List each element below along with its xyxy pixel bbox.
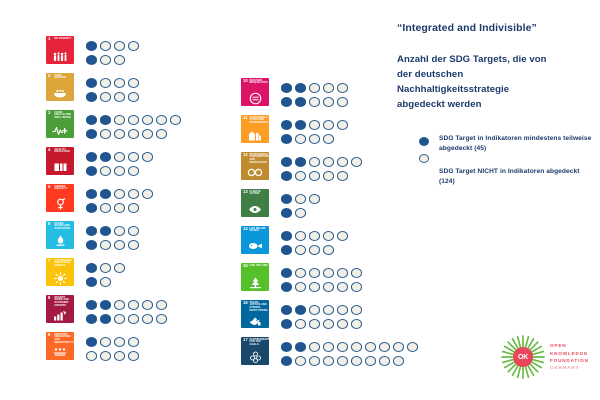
target-dot-not-covered xyxy=(337,319,348,329)
sdg-row-14: 14LIFE BELOW WATER xyxy=(241,226,421,263)
sdg-title-13: CLIMATE ACTION xyxy=(250,191,269,197)
sdg-column-left: 1NO POVERTY2ZERO HUNGER3GOOD HEALTH AND … xyxy=(46,36,184,369)
sdg-row-13: 13CLIMATE ACTION xyxy=(241,189,421,226)
sdg-number-14: 14 xyxy=(243,227,248,231)
target-dot-not-covered xyxy=(323,171,334,181)
target-dot-line xyxy=(281,229,351,243)
target-dots-10 xyxy=(281,78,351,109)
target-dot-line xyxy=(86,238,142,252)
target-dot-not-covered xyxy=(100,203,111,213)
target-dot-not-covered xyxy=(337,157,348,167)
gender-icon xyxy=(46,196,74,212)
target-dot-covered xyxy=(281,208,292,218)
sdg-row-16: 16PEACE, JUSTICE AND STRONG INSTITUTIONS xyxy=(241,300,421,337)
sdg-icon-9: 9INDUSTRY, INNOVATION AND INFRASTRUCTURE xyxy=(46,332,74,360)
target-dot-not-covered xyxy=(100,41,111,51)
people-icon xyxy=(46,48,74,64)
target-dot-not-covered xyxy=(323,282,334,292)
target-dot-not-covered xyxy=(114,226,125,236)
target-dot-covered xyxy=(295,120,306,130)
target-dot-line xyxy=(86,349,142,363)
target-dot-not-covered xyxy=(128,166,139,176)
target-dot-covered xyxy=(281,342,292,352)
target-dot-line xyxy=(86,312,170,326)
okf-burst-icon: OK xyxy=(500,334,546,380)
target-dot-not-covered xyxy=(114,115,125,125)
target-dot-not-covered xyxy=(100,240,111,250)
sdg-number-8: 8 xyxy=(48,296,50,300)
target-dot-not-covered xyxy=(309,194,320,204)
sdg-icon-12: 12RESPONSIBLE CONSUMPTION AND PRODUCTION xyxy=(241,152,269,180)
sdg-title-7: AFFORDABLE AND CLEAN ENERGY xyxy=(55,260,74,269)
target-dots-7 xyxy=(86,258,128,289)
target-dot-not-covered xyxy=(295,231,306,241)
target-dot-not-covered xyxy=(142,115,153,125)
target-dot-not-covered xyxy=(128,92,139,102)
target-dot-not-covered xyxy=(407,342,418,352)
target-dot-not-covered xyxy=(323,356,334,366)
target-dot-not-covered xyxy=(309,282,320,292)
okf-line-4: GERMANY xyxy=(550,364,589,371)
legend-item-not-covered: SDG Target NICHT in Indikatoren abgedeck… xyxy=(419,167,597,189)
target-dot-covered xyxy=(86,78,97,88)
target-dot-line xyxy=(281,266,365,280)
target-dot-not-covered xyxy=(309,83,320,93)
target-dot-line xyxy=(281,340,421,354)
target-dot-covered xyxy=(86,41,97,51)
target-dot-not-covered xyxy=(393,342,404,352)
target-dot-line xyxy=(281,81,351,95)
target-dot-line xyxy=(86,164,156,178)
target-dot-not-covered xyxy=(323,231,334,241)
target-dot-line xyxy=(86,53,142,67)
target-dot-covered xyxy=(281,134,292,144)
sun-icon xyxy=(46,270,74,286)
target-dot-line xyxy=(86,201,156,215)
target-dot-not-covered xyxy=(86,351,97,361)
pulse-icon xyxy=(46,122,74,138)
target-dot-not-covered xyxy=(309,171,320,181)
sdg-row-5: 5GENDER EQUALITY xyxy=(46,184,184,221)
target-dot-not-covered xyxy=(337,356,348,366)
target-dot-not-covered xyxy=(351,282,362,292)
target-dot-line xyxy=(86,187,156,201)
target-dot-not-covered xyxy=(323,134,334,144)
target-dot-covered xyxy=(100,115,111,125)
legend: SDG Target in Indikatoren mindestens tei… xyxy=(419,134,597,189)
target-dot-covered xyxy=(281,97,292,107)
target-dot-not-covered xyxy=(100,78,111,88)
target-dot-covered xyxy=(100,300,111,310)
target-dot-not-covered xyxy=(114,152,125,162)
target-dot-not-covered xyxy=(142,300,153,310)
sdg-number-12: 12 xyxy=(243,153,248,157)
target-dot-not-covered xyxy=(323,245,334,255)
target-dots-15 xyxy=(281,263,365,294)
target-dot-not-covered xyxy=(142,314,153,324)
target-dot-not-covered xyxy=(309,245,320,255)
target-dot-not-covered xyxy=(100,129,111,139)
city-icon xyxy=(241,127,269,143)
target-dots-9 xyxy=(86,332,142,363)
target-dot-not-covered xyxy=(393,356,404,366)
target-dots-3 xyxy=(86,110,184,141)
target-dot-covered xyxy=(295,342,306,352)
target-dot-not-covered xyxy=(337,268,348,278)
sdg-number-16: 16 xyxy=(243,301,248,305)
target-dot-not-covered xyxy=(309,305,320,315)
growth-icon xyxy=(46,307,74,323)
target-dot-not-covered xyxy=(337,171,348,181)
sdg-number-15: 15 xyxy=(243,264,248,268)
sdg-row-12: 12RESPONSIBLE CONSUMPTION AND PRODUCTION xyxy=(241,152,421,189)
sdg-number-11: 11 xyxy=(243,116,247,120)
target-dot-covered xyxy=(295,305,306,315)
target-dot-not-covered xyxy=(128,78,139,88)
sdg-row-11: 11SUSTAINABLE CITIES AND COMMUNITIES xyxy=(241,115,421,152)
target-dot-line xyxy=(281,243,351,257)
target-dot-not-covered xyxy=(156,314,167,324)
target-dot-not-covered xyxy=(114,92,125,102)
sdg-number-2: 2 xyxy=(48,74,50,78)
target-dot-not-covered xyxy=(337,305,348,315)
target-dots-12 xyxy=(281,152,365,183)
legend-label-covered: SDG Target in Indikatoren mindestens tei… xyxy=(439,134,597,154)
sdg-title-15: LIFE ON LAND xyxy=(250,265,269,268)
target-dot-covered xyxy=(281,194,292,204)
target-dots-11 xyxy=(281,115,351,146)
target-dot-not-covered xyxy=(323,305,334,315)
target-dot-covered xyxy=(281,157,292,167)
target-dot-covered xyxy=(281,231,292,241)
target-dot-not-covered xyxy=(323,120,334,130)
target-dot-not-covered xyxy=(295,208,306,218)
page-subtitle: Anzahl der SDG Targets, die von der deut… xyxy=(397,53,547,112)
target-dot-not-covered xyxy=(114,55,125,65)
target-dot-not-covered xyxy=(114,351,125,361)
sdg-number-1: 1 xyxy=(48,37,50,41)
legend-label-not-covered: SDG Target NICHT in Indikatoren abgedeck… xyxy=(439,167,597,187)
book-icon xyxy=(46,159,74,175)
target-dot-line xyxy=(281,303,365,317)
sdg-title-1: NO POVERTY xyxy=(55,38,74,41)
target-dot-not-covered xyxy=(100,55,111,65)
sdg-row-4: 4QUALITY EDUCATION xyxy=(46,147,184,184)
sdg-number-4: 4 xyxy=(48,148,50,152)
target-dot-covered xyxy=(100,152,111,162)
target-dot-not-covered xyxy=(114,314,125,324)
target-dot-covered xyxy=(295,83,306,93)
target-dot-not-covered xyxy=(309,134,320,144)
target-dot-not-covered xyxy=(128,189,139,199)
target-dot-not-covered xyxy=(337,342,348,352)
target-dot-line xyxy=(86,275,128,289)
water-icon xyxy=(46,233,74,249)
target-dot-covered xyxy=(281,245,292,255)
sdg-icon-8: 8DECENT WORK AND ECONOMIC GROWTH xyxy=(46,295,74,323)
target-dot-not-covered xyxy=(128,129,139,139)
okf-line-2: KNOWLEDGE xyxy=(550,350,589,357)
target-dot-line xyxy=(86,261,128,275)
target-dot-line xyxy=(281,169,365,183)
target-dot-not-covered xyxy=(100,337,111,347)
target-dot-not-covered xyxy=(100,351,111,361)
sdg-title-10: REDUCED INEQUALITIES xyxy=(250,80,269,86)
target-dot-not-covered xyxy=(337,231,348,241)
target-dot-not-covered xyxy=(142,129,153,139)
target-dots-4 xyxy=(86,147,156,178)
target-dot-not-covered xyxy=(142,189,153,199)
sdg-icon-17: 17PARTNERSHIPS FOR THE GOALS xyxy=(241,337,269,365)
target-dot-not-covered xyxy=(114,263,125,273)
target-dot-covered xyxy=(86,189,97,199)
target-dot-not-covered xyxy=(379,342,390,352)
target-dot-not-covered xyxy=(128,300,139,310)
target-dots-8 xyxy=(86,295,170,326)
target-dots-17 xyxy=(281,337,421,368)
sdg-row-17: 17PARTNERSHIPS FOR THE GOALS xyxy=(241,337,421,374)
target-dot-line xyxy=(86,76,142,90)
target-dot-line xyxy=(86,224,142,238)
target-dot-covered xyxy=(281,171,292,181)
target-dot-not-covered xyxy=(128,240,139,250)
target-dot-line xyxy=(281,132,351,146)
target-dot-covered xyxy=(281,83,292,93)
sdg-title-4: QUALITY EDUCATION xyxy=(55,149,74,155)
target-dot-not-covered xyxy=(100,263,111,273)
target-dot-covered xyxy=(86,277,97,287)
target-dot-covered xyxy=(281,120,292,130)
target-dot-not-covered xyxy=(295,356,306,366)
target-dot-not-covered xyxy=(323,319,334,329)
infinity-icon xyxy=(241,164,269,180)
target-dot-covered xyxy=(86,203,97,213)
target-dot-not-covered xyxy=(128,115,139,125)
target-dot-not-covered xyxy=(114,203,125,213)
target-dot-not-covered xyxy=(295,319,306,329)
target-dot-line xyxy=(86,39,142,53)
target-dot-covered xyxy=(100,314,111,324)
target-dot-not-covered xyxy=(114,129,125,139)
target-dot-line xyxy=(281,280,365,294)
target-dot-not-covered xyxy=(114,337,125,347)
target-dots-2 xyxy=(86,73,142,104)
target-dot-covered xyxy=(281,319,292,329)
target-dot-line xyxy=(86,127,184,141)
sdg-title-3: GOOD HEALTH AND WELL-BEING xyxy=(55,112,74,121)
target-dot-covered xyxy=(86,263,97,273)
target-dot-line xyxy=(281,95,351,109)
target-dots-13 xyxy=(281,189,323,220)
sdg-row-7: 7AFFORDABLE AND CLEAN ENERGY xyxy=(46,258,184,295)
target-dot-not-covered xyxy=(309,319,320,329)
target-dot-covered xyxy=(86,166,97,176)
target-dot-not-covered xyxy=(170,115,181,125)
target-dot-not-covered xyxy=(156,300,167,310)
target-dot-not-covered xyxy=(351,319,362,329)
target-dot-covered xyxy=(295,97,306,107)
target-dot-not-covered xyxy=(128,351,139,361)
target-dot-covered xyxy=(86,226,97,236)
okf-logo-text: OPEN KNOWLEDGE FOUNDATION GERMANY xyxy=(550,342,589,371)
sdg-row-2: 2ZERO HUNGER xyxy=(46,73,184,110)
target-dot-line xyxy=(281,317,365,331)
target-dot-covered xyxy=(295,157,306,167)
target-dot-line xyxy=(281,155,365,169)
sdg-title-6: CLEAN WATER AND SANITATION xyxy=(55,223,74,232)
sdg-title-2: ZERO HUNGER xyxy=(55,75,74,81)
okf-logo: OK OPEN KNOWLEDGE FOUNDATION GERMANY xyxy=(500,334,589,380)
target-dots-1 xyxy=(86,36,142,67)
industry-icon xyxy=(46,344,74,360)
target-dot-not-covered xyxy=(100,92,111,102)
target-dot-not-covered xyxy=(142,152,153,162)
sdg-number-6: 6 xyxy=(48,222,50,226)
target-dot-not-covered xyxy=(114,240,125,250)
sdg-icon-15: 15LIFE ON LAND xyxy=(241,263,269,291)
eye-icon xyxy=(241,201,269,217)
target-dots-14 xyxy=(281,226,351,257)
sdg-number-5: 5 xyxy=(48,185,50,189)
sdg-number-13: 13 xyxy=(243,190,248,194)
target-dot-covered xyxy=(100,226,111,236)
target-dot-not-covered xyxy=(337,120,348,130)
sdg-icon-2: 2ZERO HUNGER xyxy=(46,73,74,101)
target-dot-not-covered xyxy=(114,78,125,88)
sdg-row-15: 15LIFE ON LAND xyxy=(241,263,421,300)
page-title: “Integrated and Indivisible” xyxy=(397,22,597,36)
target-dot-covered xyxy=(86,152,97,162)
target-dot-line xyxy=(281,118,351,132)
target-dot-line xyxy=(86,298,170,312)
target-dot-covered xyxy=(86,314,97,324)
target-dot-not-covered xyxy=(128,41,139,51)
sdg-row-9: 9INDUSTRY, INNOVATION AND INFRASTRUCTURE xyxy=(46,332,184,369)
target-dot-not-covered xyxy=(351,157,362,167)
okf-line-1: OPEN xyxy=(550,342,589,349)
target-dot-covered xyxy=(86,92,97,102)
sdg-row-8: 8DECENT WORK AND ECONOMIC GROWTH xyxy=(46,295,184,332)
sdg-number-9: 9 xyxy=(48,333,50,337)
target-dot-covered xyxy=(86,240,97,250)
target-dot-not-covered xyxy=(128,337,139,347)
sdg-row-1: 1NO POVERTY xyxy=(46,36,184,73)
target-dot-not-covered xyxy=(114,189,125,199)
target-dot-not-covered xyxy=(323,268,334,278)
target-dot-not-covered xyxy=(156,129,167,139)
sdg-row-10: 10REDUCED INEQUALITIES xyxy=(241,78,421,115)
sdg-icon-7: 7AFFORDABLE AND CLEAN ENERGY xyxy=(46,258,74,286)
bowl-icon xyxy=(46,85,74,101)
target-dot-line xyxy=(86,150,156,164)
okf-mark-text: OK xyxy=(513,347,533,367)
target-dot-not-covered xyxy=(351,356,362,366)
sdg-icon-3: 3GOOD HEALTH AND WELL-BEING xyxy=(46,110,74,138)
sdg-icon-11: 11SUSTAINABLE CITIES AND COMMUNITIES xyxy=(241,115,269,143)
target-dot-not-covered xyxy=(100,277,111,287)
target-dot-covered xyxy=(86,129,97,139)
target-dot-not-covered xyxy=(295,245,306,255)
sdg-icon-4: 4QUALITY EDUCATION xyxy=(46,147,74,175)
sdg-column-right: 10REDUCED INEQUALITIES11SUSTAINABLE CITI… xyxy=(241,78,421,374)
target-dots-5 xyxy=(86,184,156,215)
target-dot-not-covered xyxy=(295,171,306,181)
target-dot-not-covered xyxy=(309,342,320,352)
sdg-icon-1: 1NO POVERTY xyxy=(46,36,74,64)
sdg-icon-10: 10REDUCED INEQUALITIES xyxy=(241,78,269,106)
target-dot-line xyxy=(86,90,142,104)
target-dot-line xyxy=(86,335,142,349)
target-dot-not-covered xyxy=(128,152,139,162)
target-dot-not-covered xyxy=(128,226,139,236)
target-dot-not-covered xyxy=(309,356,320,366)
target-dot-line xyxy=(86,113,184,127)
target-dot-not-covered xyxy=(114,300,125,310)
sdg-number-17: 17 xyxy=(243,338,248,342)
sdg-icon-5: 5GENDER EQUALITY xyxy=(46,184,74,212)
target-dot-not-covered xyxy=(351,305,362,315)
target-dot-covered xyxy=(281,268,292,278)
target-dot-not-covered xyxy=(295,194,306,204)
target-dot-covered xyxy=(86,115,97,125)
fish-icon xyxy=(241,238,269,254)
sdg-title-17: PARTNERSHIPS FOR THE GOALS xyxy=(250,339,269,348)
target-dot-not-covered xyxy=(365,356,376,366)
legend-item-covered: SDG Target in Indikatoren mindestens tei… xyxy=(419,134,597,156)
target-dot-covered xyxy=(86,337,97,347)
target-dot-not-covered xyxy=(309,231,320,241)
target-dot-not-covered xyxy=(351,268,362,278)
target-dot-not-covered xyxy=(337,83,348,93)
target-dot-not-covered xyxy=(128,203,139,213)
sdg-number-7: 7 xyxy=(48,259,50,263)
dove-icon xyxy=(241,312,269,328)
target-dot-not-covered xyxy=(156,115,167,125)
target-dot-not-covered xyxy=(337,282,348,292)
target-dot-not-covered xyxy=(323,157,334,167)
target-dot-covered xyxy=(281,305,292,315)
target-dot-covered xyxy=(86,55,97,65)
sdg-icon-14: 14LIFE BELOW WATER xyxy=(241,226,269,254)
target-dots-16 xyxy=(281,300,365,331)
target-dot-not-covered xyxy=(295,282,306,292)
target-dot-not-covered xyxy=(309,157,320,167)
target-dot-not-covered xyxy=(295,134,306,144)
sdg-title-11: SUSTAINABLE CITIES AND COMMUNITIES xyxy=(250,117,269,126)
target-dot-not-covered xyxy=(309,268,320,278)
target-dot-not-covered xyxy=(309,97,320,107)
target-dot-line xyxy=(281,206,323,220)
sdg-number-3: 3 xyxy=(48,111,50,115)
target-dot-not-covered xyxy=(379,356,390,366)
target-dot-not-covered xyxy=(100,166,111,176)
target-dot-covered xyxy=(281,282,292,292)
sdg-icon-13: 13CLIMATE ACTION xyxy=(241,189,269,217)
legend-swatch-not-covered-icon xyxy=(419,154,429,163)
sdg-icon-16: 16PEACE, JUSTICE AND STRONG INSTITUTIONS xyxy=(241,300,269,328)
target-dot-covered xyxy=(86,300,97,310)
target-dot-not-covered xyxy=(114,41,125,51)
target-dot-covered xyxy=(281,356,292,366)
target-dots-6 xyxy=(86,221,142,252)
target-dot-not-covered xyxy=(323,342,334,352)
target-dot-covered xyxy=(100,189,111,199)
target-dot-not-covered xyxy=(351,342,362,352)
target-dot-line xyxy=(281,354,421,368)
sdg-row-6: 6CLEAN WATER AND SANITATION xyxy=(46,221,184,258)
target-dot-not-covered xyxy=(128,314,139,324)
sdg-icon-6: 6CLEAN WATER AND SANITATION xyxy=(46,221,74,249)
